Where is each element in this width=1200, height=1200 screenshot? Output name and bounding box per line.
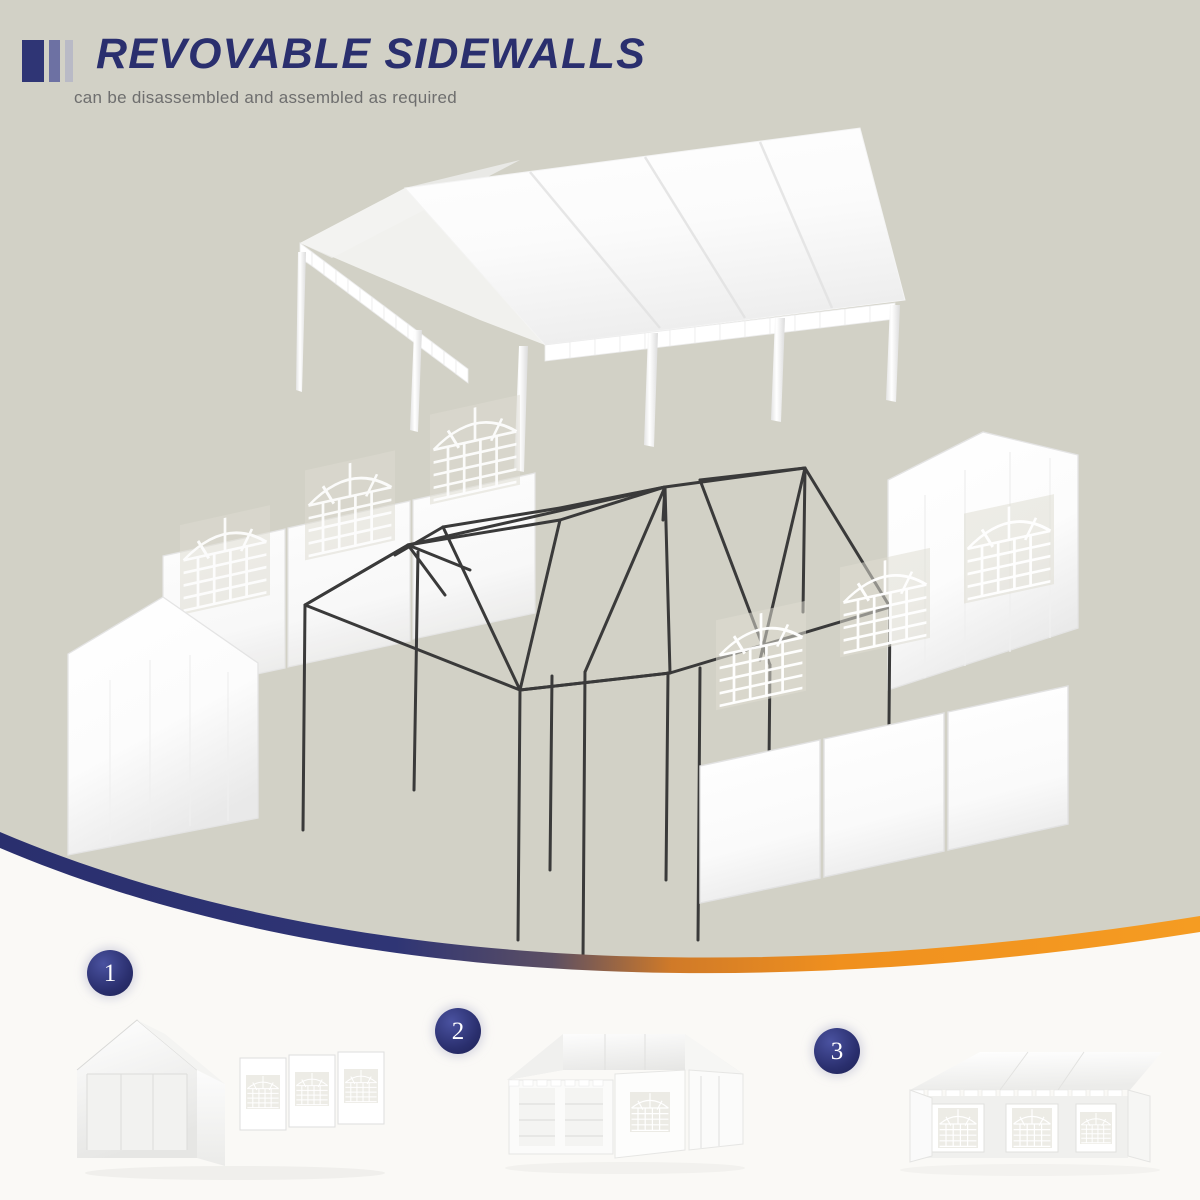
detached-wall-panels <box>240 1052 384 1130</box>
step-badge-3: 3 <box>814 1028 860 1074</box>
step-badge-1: 1 <box>87 950 133 996</box>
infographic-page: REVOVABLE SIDEWALLS can be disassembled … <box>0 0 1200 1200</box>
step-art-tent-with-detached-wall-panels <box>65 998 415 1188</box>
step-art-tent-fully-walled <box>880 1038 1190 1188</box>
step-item-1[interactable]: 1 <box>55 940 415 1200</box>
step-thumbnails: 1 <box>0 940 1200 1200</box>
accent-bars <box>22 40 73 82</box>
step-item-2[interactable]: 2 <box>425 940 765 1200</box>
header: REVOVABLE SIDEWALLS can be disassembled … <box>0 0 1200 130</box>
accent-bar-3 <box>65 40 73 82</box>
roof-canopy-part <box>296 128 905 472</box>
page-subtitle: can be disassembled and assembled as req… <box>74 88 457 108</box>
page-title: REVOVABLE SIDEWALLS <box>96 30 646 79</box>
accent-bar-1 <box>22 40 44 82</box>
step-badge-2: 2 <box>435 1008 481 1054</box>
step-art-tent-with-partial-walls <box>485 1018 765 1183</box>
main-illustration <box>0 0 1200 1000</box>
accent-bar-2 <box>49 40 60 82</box>
step-item-3[interactable]: 3 <box>800 940 1190 1200</box>
right-side-wall-panels <box>700 494 1068 903</box>
